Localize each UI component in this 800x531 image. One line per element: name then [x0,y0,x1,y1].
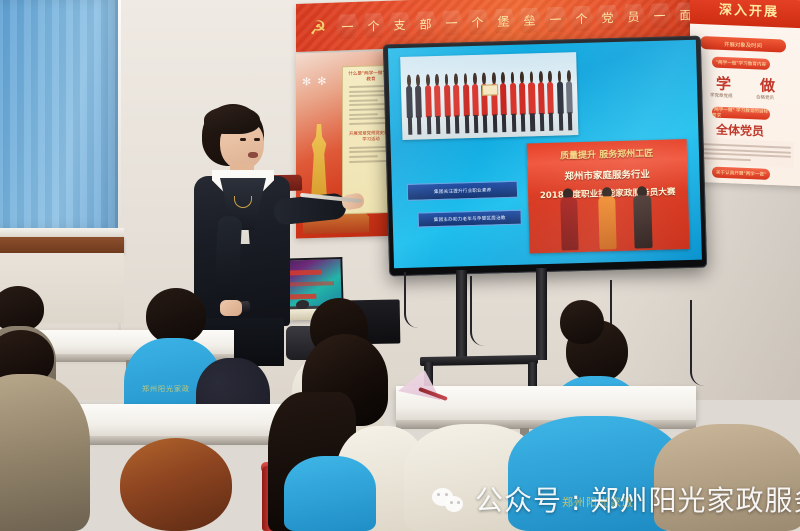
tv-stand-column [536,268,547,360]
group-person [508,70,518,132]
window-curtain [0,0,118,230]
banner-cell: 垒 [518,7,541,33]
audience-member-foreground [0,330,90,531]
group-person [565,69,575,131]
tv-cable [690,300,708,386]
audience-puffer-coat [0,374,90,531]
banner-cell: 员 [622,4,645,30]
board-big-2: 做 [760,75,775,97]
group-person [470,71,480,133]
banner-cell: 一 [544,7,567,33]
window-sill [0,228,124,237]
slide-caption-2: 集团主办助力老年与孕婴区居治教 [417,210,522,228]
banner-line-1: 质量提升 服务郑州工匠 [531,145,682,162]
presenter-eye [240,138,246,141]
group-person [414,73,424,135]
board-pill-3: 关于认真开展"两学一做" [712,166,770,179]
board-big-1: 学 [716,73,731,95]
dove-icon: ✻✻ [302,74,332,88]
board-pill-2: "两学一做" 学习教育的目标要求 [712,106,770,119]
banner-cell: 支 [388,12,411,38]
window-frame [0,237,124,253]
text-line [349,113,378,116]
audience-head [120,438,232,531]
group-person [442,72,452,134]
banner-cell: 部 [414,11,437,37]
banner-cell: 堡 [492,8,515,34]
board-small-left: 学党章党规 [710,92,733,99]
presentation-tv[interactable]: 质量提升 服务郑州工匠 郑州市家庭服务行业 2018年度职业技能家政服务员大赛 … [383,36,707,277]
board-big-3: 全体党员 [716,121,764,140]
tv-cable [470,276,486,346]
group-person [423,73,433,135]
banner-cell: 一 [440,10,463,36]
presenter-eye [254,138,260,141]
audience-member-foreground [96,438,256,531]
group-person [404,73,414,135]
banner-cell: 个 [362,13,385,39]
vest-label: 郑州阳光家政 [142,384,190,394]
group-person [499,71,509,133]
board-paragraph [698,138,794,168]
stage-person [556,188,582,250]
banner-cell: 党 [596,5,619,31]
stage-person [595,187,621,249]
group-person [527,70,537,132]
photo-scene: ☭ 一 个 支 部 一 个 堡 垒 一 个 党 员 一 面 旗 帜 ✻✻ 什么是… [0,0,800,531]
banner-cell: 一 [648,3,671,29]
slide-caption-1: 集团关注提升行业职业素养 [407,181,518,201]
text-line [701,157,751,161]
text-line [349,99,378,102]
banner-slogan-cells: 一 个 支 部 一 个 堡 垒 一 个 党 员 一 面 旗 帜 [336,0,692,39]
audience-member [556,300,608,374]
group-person [452,72,462,134]
tv-stand-column [456,270,467,362]
group-person [489,71,499,133]
award-group-row [404,69,574,136]
group-person [555,69,565,131]
group-person [461,72,471,134]
board-tag: 开展对象及时间 [700,36,786,53]
banner-cell: 一 [336,14,359,40]
award-plaque [482,84,498,95]
wechat-icon [432,487,466,515]
board-header: 深入开展 [690,0,800,29]
board-pill-1: "两学一做"学习教育内容 [712,56,770,69]
audience-blue-vest [284,456,376,531]
audience-head [560,300,604,344]
group-person [517,70,527,132]
banner-line-2: 郑州市家庭服务行业 [532,166,683,184]
banner-cell: 个 [570,6,593,32]
presenter-mouth [248,152,258,158]
tv-bezel: 质量提升 服务郑州工匠 郑州市家庭服务行业 2018年度职业技能家政服务员大赛 … [383,36,707,277]
hammer-sickle-icon: ☭ [306,17,330,42]
tv-screen[interactable]: 质量提升 服务郑州工匠 郑州市家庭服务行业 2018年度职业技能家政服务员大赛 … [388,40,702,269]
slide-group-photo [400,52,578,140]
party-education-board: 深入开展 开展对象及时间 "两学一做"学习教育内容 学 做 学党章党规 合格党员… [690,0,800,186]
text-line [349,155,378,158]
wechat-watermark: 公众号 : 郑州阳光家政服务公司 [432,487,800,515]
tv-cable [404,272,424,328]
slide-competition-photo: 质量提升 服务郑州工匠 郑州市家庭服务行业 2018年度职业技能家政服务员大赛 [526,139,689,253]
board-small-right: 合格党员 [756,94,774,101]
watermark-account: 郑州阳光家政服务公司 [590,487,800,515]
banner-cell: 个 [466,9,489,35]
group-person [546,69,556,131]
presenter-left-hand [220,300,242,316]
stage-person [630,186,656,248]
group-person [480,71,490,133]
presenter-fringe [204,106,260,134]
watermark-separator: : [571,487,581,515]
group-person [536,69,546,131]
group-person [433,72,443,134]
watermark-label: 公众号 [475,487,562,515]
